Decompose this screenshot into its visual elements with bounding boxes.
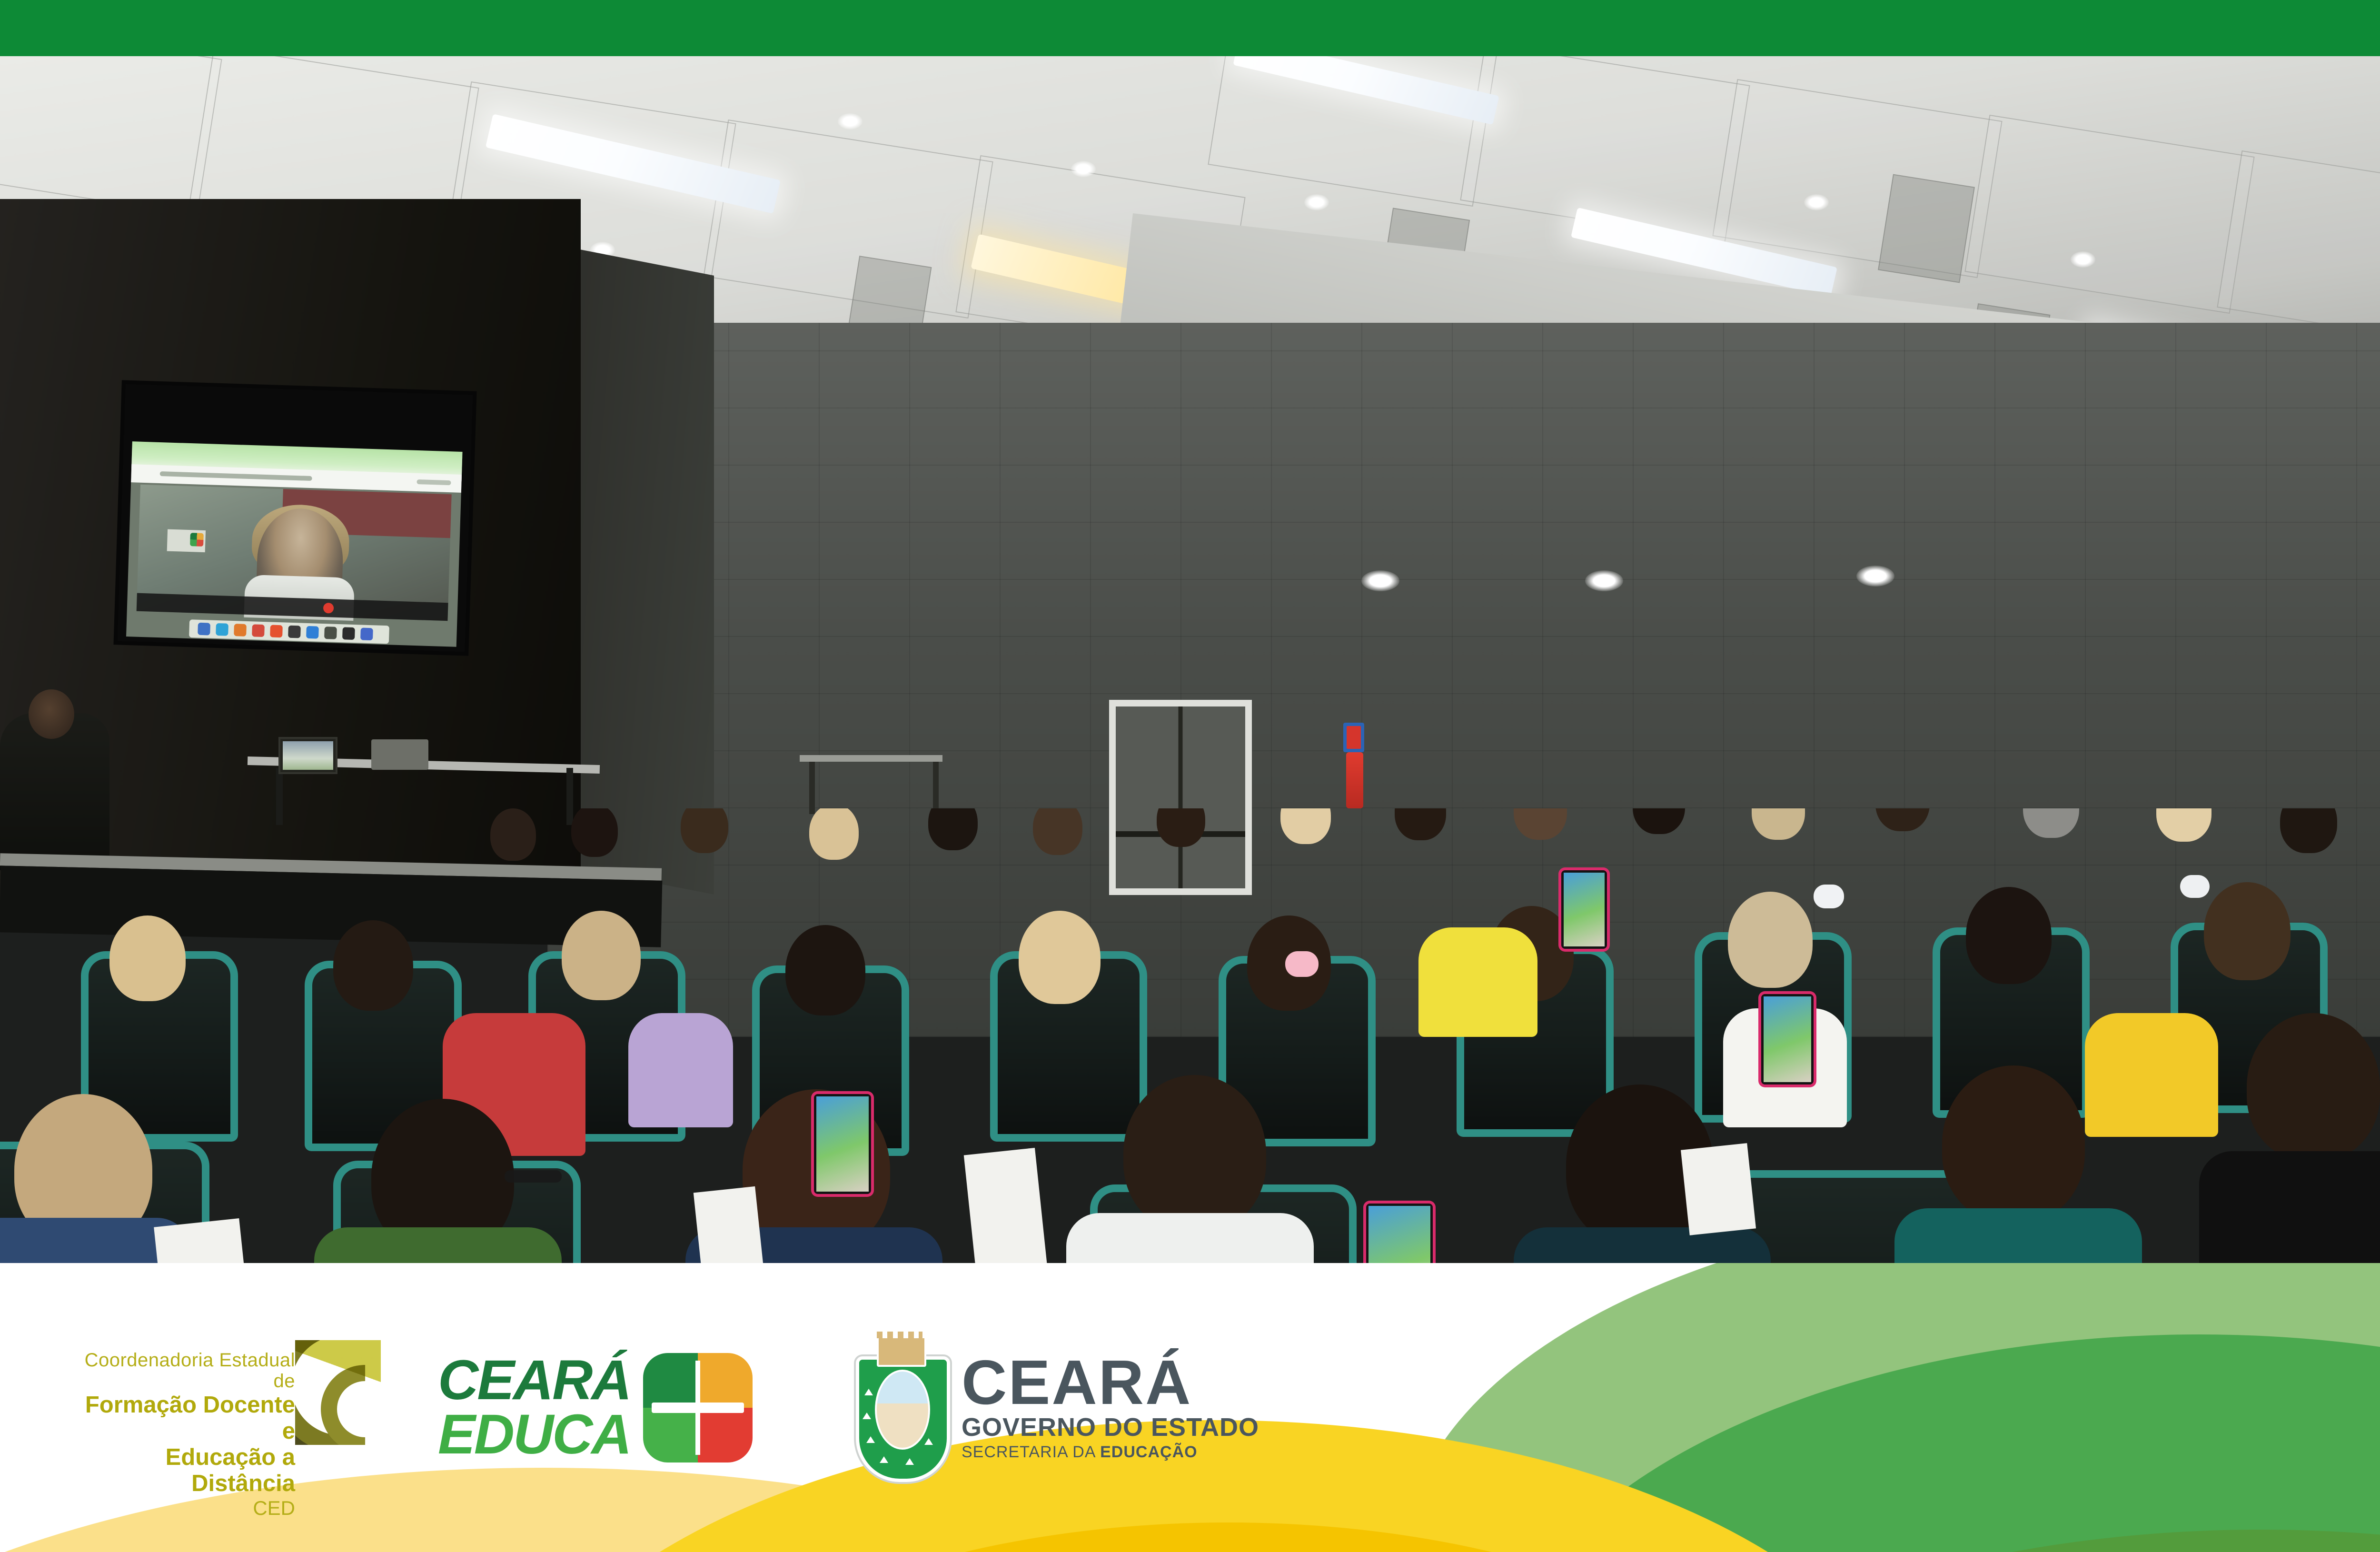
- audience-head: [1280, 808, 1331, 844]
- audience-head: [1728, 892, 1813, 988]
- eyeglasses-icon: [505, 1170, 562, 1183]
- wall-sconce: [1585, 570, 1623, 591]
- audience-head: [1514, 808, 1567, 840]
- smartphone: [1366, 1204, 1433, 1263]
- side-table: [800, 755, 942, 762]
- face-mask-icon: [1285, 951, 1319, 977]
- ceara-governo-department: SECRETARIA DA EDUCAÇÃO: [962, 1443, 1259, 1462]
- audience-head: [1123, 1075, 1266, 1232]
- dock-icon: [216, 623, 228, 636]
- footer-branding-bar: Coordenadoria Estadual de Formação Docen…: [0, 1263, 2380, 1552]
- ceara-educa-wordmark: CEARÁ EDUCA: [438, 1353, 631, 1462]
- audience-person: [628, 1013, 733, 1127]
- ceara-educa-line-1: CEARÁ: [438, 1353, 631, 1407]
- table-leg: [809, 762, 815, 814]
- dock-icon: [198, 623, 210, 636]
- ced-line-3: Educação a Distância: [76, 1444, 295, 1497]
- fire-extinguisher-sign-icon: [1343, 723, 1364, 752]
- audience-head: [681, 808, 728, 853]
- audience-head: [1019, 911, 1101, 1004]
- av-equipment: [371, 739, 428, 770]
- audience-person: [2085, 1013, 2218, 1137]
- audience-head: [1033, 808, 1082, 855]
- face-mask-icon: [1814, 885, 1844, 908]
- event-photograph: [0, 56, 2380, 1263]
- audience: [0, 808, 2380, 1263]
- signal-arcs-icon: [295, 1340, 381, 1445]
- smartphone: [1561, 870, 1607, 949]
- audience-head: [1633, 808, 1685, 834]
- audience-head: [571, 808, 618, 857]
- audience-head: [562, 911, 641, 1000]
- audience-person: [1514, 1227, 1771, 1263]
- ceara-state-coat-of-arms-icon: [852, 1336, 947, 1479]
- smartphone: [814, 1094, 871, 1194]
- logo-ceara-educa[interactable]: CEARÁ EDUCA: [438, 1341, 790, 1474]
- audience-head: [2023, 808, 2079, 838]
- ceiling-spotlight: [1304, 194, 1329, 210]
- table-leg: [933, 762, 939, 814]
- ceiling-spotlight: [2071, 251, 2095, 268]
- projection-screen: [118, 384, 473, 652]
- dock-icon: [324, 627, 337, 639]
- audience-person: [2199, 1151, 2380, 1263]
- handout-paper: [1681, 1143, 1756, 1235]
- department-bold: EDUCAÇÃO: [1100, 1443, 1197, 1461]
- audience-person: [1066, 1213, 1314, 1263]
- dock-icon: [252, 624, 265, 637]
- audience-person: [1418, 927, 1537, 1037]
- audience-head: [1875, 808, 1930, 831]
- fire-extinguisher-icon: [1346, 752, 1363, 808]
- department-prefix: SECRETARIA DA: [962, 1443, 1100, 1461]
- dock-icon: [360, 627, 373, 640]
- audience-head: [1157, 808, 1205, 847]
- dock-icon: [270, 625, 283, 637]
- audience-head: [1395, 808, 1446, 840]
- ceara-governo-title: CEARÁ: [962, 1353, 1259, 1411]
- ceara-educa-line-2: EDUCA: [438, 1408, 631, 1462]
- audience-head: [109, 915, 186, 1001]
- ceiling-spotlight: [1071, 161, 1096, 177]
- audience-person: [314, 1227, 562, 1263]
- top-accent-bar: [0, 0, 2380, 56]
- audience-head: [809, 808, 859, 860]
- ced-line-1: Coordenadoria Estadual de: [76, 1350, 295, 1393]
- ced-line-2: Formação Docente e: [76, 1392, 295, 1444]
- audience-head: [1942, 1065, 2085, 1223]
- logo-ced[interactable]: Coordenadoria Estadual de Formação Docen…: [76, 1336, 381, 1479]
- audience-head: [1752, 808, 1805, 840]
- ceiling-spotlight: [838, 113, 863, 129]
- audience-head: [785, 925, 865, 1015]
- logo-ceara-governo[interactable]: CEARÁ GOVERNO DO ESTADO SECRETARIA DA ED…: [852, 1336, 1259, 1479]
- face-mask-icon: [2180, 875, 2210, 898]
- smartphone: [1761, 994, 1814, 1084]
- quadrant-cross-icon: [643, 1353, 753, 1462]
- logo-row: Coordenadoria Estadual de Formação Docen…: [0, 1263, 1285, 1552]
- ced-wordmark: Coordenadoria Estadual de Formação Docen…: [76, 1350, 295, 1519]
- handout-paper: [964, 1148, 1050, 1263]
- audience-head: [928, 808, 978, 850]
- audience-head: [490, 808, 536, 861]
- ceara-governo-subtitle: GOVERNO DO ESTADO: [962, 1414, 1259, 1440]
- ced-line-4: CED: [76, 1497, 295, 1519]
- slide-root: Coordenadoria Estadual de Formação Docen…: [0, 0, 2380, 1552]
- audience-head: [1966, 887, 2052, 984]
- presenter-head: [29, 689, 74, 739]
- laptop: [278, 737, 337, 774]
- audience-head: [2247, 1013, 2380, 1161]
- audience-head: [333, 920, 413, 1011]
- dock-icon: [234, 624, 247, 637]
- wall-sconce: [1856, 566, 1894, 587]
- audience-head: [2156, 808, 2211, 842]
- dock-icon: [342, 627, 355, 640]
- dock-icon: [288, 626, 301, 638]
- ceiling-spotlight: [1804, 194, 1829, 210]
- dock-icon: [306, 626, 319, 639]
- audience-head: [2280, 808, 2337, 853]
- audience-person: [1894, 1208, 2142, 1263]
- wall-sconce: [1361, 570, 1399, 591]
- ceara-governo-wordmark: CEARÁ GOVERNO DO ESTADO SECRETARIA DA ED…: [962, 1353, 1259, 1461]
- audience-head: [2204, 882, 2291, 980]
